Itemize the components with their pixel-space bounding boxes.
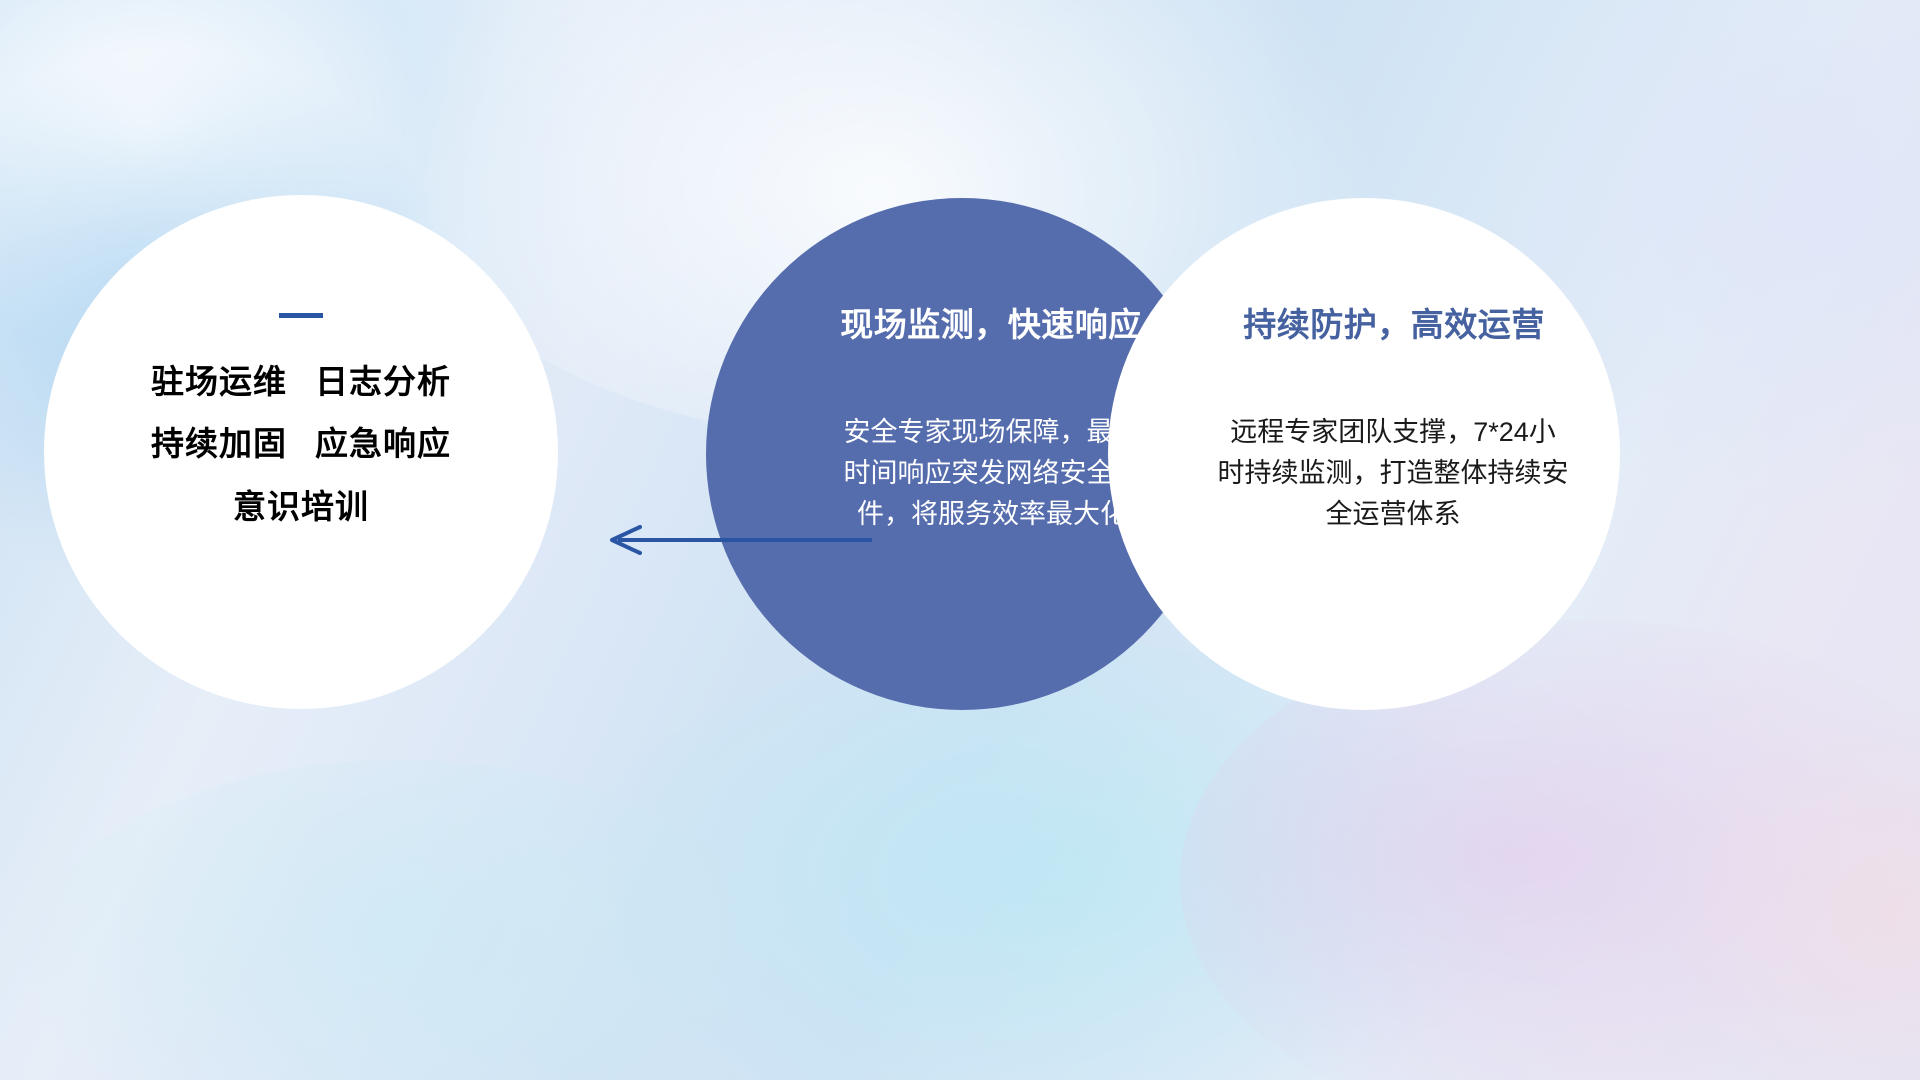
service-tag-5: 意识培训 bbox=[233, 488, 369, 525]
service-tag-2: 日志分析 bbox=[315, 363, 451, 400]
list-item: 持续加固应急响应 bbox=[151, 426, 451, 462]
right-circle-content: 持续防护，高效运营 远程专家团队支撑，7*24小时持续监测，打造整体持续安全运营… bbox=[1108, 198, 1620, 710]
middle-circle-body: 安全专家现场保障，最短时间响应突发网络安全事件，将服务效率最大化 bbox=[842, 412, 1142, 535]
service-tag-1: 驻场运维 bbox=[151, 363, 287, 400]
slide-canvas: 驻场运维日志分析 持续加固应急响应 意识培训 现场监测，快速响应 安全专家现场保… bbox=[0, 0, 1920, 1080]
middle-circle-title: 现场监测，快速响应 bbox=[840, 298, 1142, 346]
background-glow-corner-right bbox=[1660, 700, 1920, 1080]
service-tag-3: 持续加固 bbox=[151, 425, 287, 462]
left-service-list: 驻场运维日志分析 持续加固应急响应 意识培训 bbox=[151, 364, 451, 525]
right-feature-circle[interactable]: 持续防护，高效运营 远程专家团队支撑，7*24小时持续监测，打造整体持续安全运营… bbox=[1108, 198, 1620, 710]
background-glow-bottom-left bbox=[20, 760, 780, 1080]
blue-dash-divider bbox=[279, 313, 323, 318]
right-circle-body: 远程专家团队支撑，7*24小时持续监测，打造整体持续安全运营体系 bbox=[1217, 412, 1569, 535]
left-circle-content: 驻场运维日志分析 持续加固应急响应 意识培训 bbox=[44, 195, 558, 709]
left-service-circle[interactable]: 驻场运维日志分析 持续加固应急响应 意识培训 bbox=[44, 195, 558, 709]
right-circle-title: 持续防护，高效运营 bbox=[1243, 298, 1545, 346]
service-tag-4: 应急响应 bbox=[315, 425, 451, 462]
list-item: 意识培训 bbox=[233, 489, 369, 525]
list-item: 驻场运维日志分析 bbox=[151, 364, 451, 400]
